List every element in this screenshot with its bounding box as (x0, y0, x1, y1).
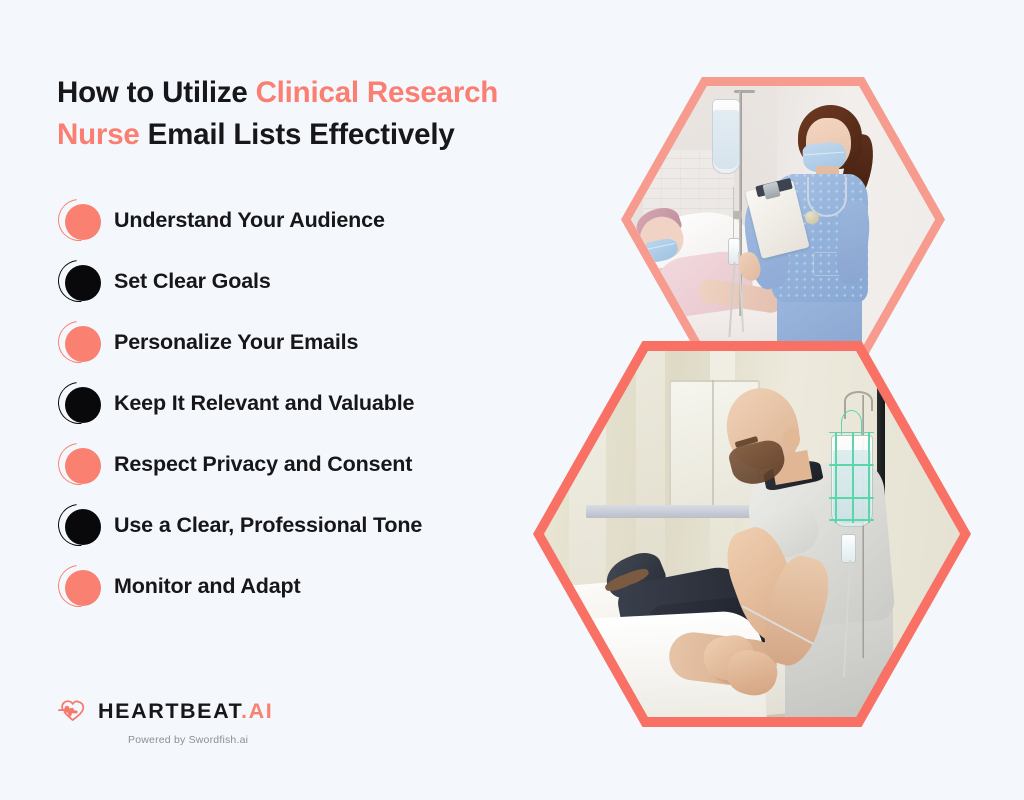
hexagon-image-clip (544, 351, 960, 717)
hospital-scene-bottom (544, 351, 960, 717)
list-item: Keep It Relevant and Valuable (57, 373, 597, 434)
list-item-label: Use a Clear, Professional Tone (114, 513, 422, 538)
heartbeat-pulse-icon (57, 697, 89, 727)
list-item-label: Personalize Your Emails (114, 330, 358, 355)
bullet-circle-icon (57, 198, 103, 244)
list-item-label: Respect Privacy and Consent (114, 452, 412, 477)
bullet-circle-icon (57, 442, 103, 488)
infographic-canvas: How to Utilize Clinical Research Nurse E… (0, 0, 1024, 800)
title-segment-3: Email Lists Effectively (140, 118, 455, 151)
list-item-label: Keep It Relevant and Valuable (114, 391, 414, 416)
tips-list: Understand Your Audience Set Clear Goals… (57, 190, 597, 617)
list-item-label: Monitor and Adapt (114, 574, 301, 599)
content-column: How to Utilize Clinical Research Nurse E… (57, 72, 597, 157)
bullet-dot (65, 387, 101, 423)
bullet-dot (65, 204, 101, 240)
page-title: How to Utilize Clinical Research Nurse E… (57, 72, 557, 157)
bullet-dot (65, 570, 101, 606)
list-item-label: Set Clear Goals (114, 269, 271, 294)
nurse-with-child-patient-iv-photo (621, 77, 945, 362)
logo-wordmark: HEARTBEAT.AI (98, 701, 273, 723)
list-item-label: Understand Your Audience (114, 208, 385, 233)
bullet-circle-icon (57, 381, 103, 427)
male-nurse-treating-patient-photo (533, 341, 971, 727)
bullet-dot (65, 509, 101, 545)
bullet-dot (65, 265, 101, 301)
bullet-dot (65, 326, 101, 362)
title-accent-2: Nurse (57, 118, 140, 151)
bullet-circle-icon (57, 564, 103, 610)
bullet-dot (65, 448, 101, 484)
logo-wordmark-main: HEARTBEAT (98, 699, 241, 723)
list-item: Use a Clear, Professional Tone (57, 495, 597, 556)
logo-wordmark-suffix: .AI (241, 699, 273, 723)
logo-row: HEARTBEAT.AI (57, 697, 273, 727)
list-item: Personalize Your Emails (57, 312, 597, 373)
bullet-circle-icon (57, 320, 103, 366)
brand-logo[interactable]: HEARTBEAT.AI Powered by Swordfish.ai (57, 697, 273, 746)
list-item: Respect Privacy and Consent (57, 434, 597, 495)
title-accent-1: Clinical Research (256, 76, 499, 109)
logo-tagline: Powered by Swordfish.ai (128, 734, 273, 746)
hospital-scene-top (631, 86, 935, 353)
hexagon-image-clip (631, 86, 935, 353)
list-item: Set Clear Goals (57, 251, 597, 312)
bullet-circle-icon (57, 259, 103, 305)
list-item: Understand Your Audience (57, 190, 597, 251)
title-segment-1: How to Utilize (57, 76, 256, 109)
bullet-circle-icon (57, 503, 103, 549)
list-item: Monitor and Adapt (57, 556, 597, 617)
